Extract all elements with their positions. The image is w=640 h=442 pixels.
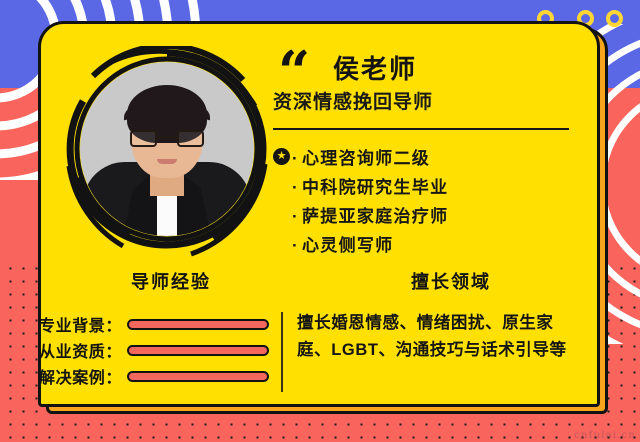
list-item: ·萨提亚家庭治疗师 <box>273 200 583 229</box>
bullet-dot: · <box>292 207 299 226</box>
experience-label: 专业背景： <box>38 312 122 336</box>
credential-text: 心灵侧写师 <box>302 236 394 255</box>
star-badge-icon: ★ <box>273 148 290 165</box>
section-heading-specialty: 擅长领域 <box>411 268 491 294</box>
portrait-photo <box>80 62 254 236</box>
poster-canvas: “ 侯老师 资深情感挽回导师 ★ ·心理咨询师二级 ·中科院研究生毕业 ·萨提亚… <box>0 0 640 442</box>
ring-decoration-3 <box>606 10 623 27</box>
portrait-glasses <box>130 130 204 147</box>
subtitle-text: 资深情感挽回导师 <box>273 87 433 114</box>
specialty-text: 擅长婚恩情感、情绪困扰、原生家庭、LGBT、沟通技巧与话术引导等 <box>297 310 575 363</box>
list-item: 专业背景： <box>38 311 281 337</box>
credential-label: ·心理咨询师二级 <box>292 144 430 169</box>
header-divider <box>273 128 569 130</box>
experience-label: 解决案例： <box>38 364 122 388</box>
credential-text: 中科院研究生毕业 <box>302 178 448 197</box>
credential-label: ·萨提亚家庭治疗师 <box>292 202 448 227</box>
list-item: ★ ·心理咨询师二级 <box>273 142 583 171</box>
credential-text: 萨提亚家庭治疗师 <box>302 207 448 226</box>
watermark-text: cnfulai.cn <box>574 430 636 441</box>
experience-list: 专业背景： 从业资质： 解决案例： <box>38 311 281 389</box>
glasses-bridge <box>157 136 177 139</box>
glasses-lens-right <box>177 130 204 147</box>
list-item: 解决案例： <box>38 363 281 389</box>
bullet-dot: · <box>292 178 299 197</box>
experience-label: 从业资质： <box>38 338 122 362</box>
redacted-bar <box>127 345 269 356</box>
credential-label: ·中科院研究生毕业 <box>292 173 448 198</box>
credential-label: ·心灵侧写师 <box>292 231 393 256</box>
redacted-bar <box>127 371 269 382</box>
redacted-bar <box>127 319 269 330</box>
list-item: 从业资质： <box>38 337 281 363</box>
list-item: ·中科院研究生毕业 <box>273 171 583 200</box>
section-heading-experience: 导师经验 <box>131 268 211 294</box>
page-title: 侯老师 <box>333 49 417 86</box>
portrait-frame <box>63 46 271 258</box>
bullet-dot: · <box>292 236 299 255</box>
profile-card: “ 侯老师 资深情感挽回导师 ★ ·心理咨询师二级 ·中科院研究生毕业 ·萨提亚… <box>38 21 600 407</box>
list-item: ·心灵侧写师 <box>273 229 583 258</box>
column-divider <box>281 312 283 392</box>
star-glyph: ★ <box>277 151 287 162</box>
credential-list: ★ ·心理咨询师二级 ·中科院研究生毕业 ·萨提亚家庭治疗师 ·心灵侧写师 <box>273 142 583 258</box>
credential-text: 心理咨询师二级 <box>302 149 430 168</box>
glasses-lens-left <box>130 130 157 147</box>
bullet-dot: · <box>292 149 299 168</box>
